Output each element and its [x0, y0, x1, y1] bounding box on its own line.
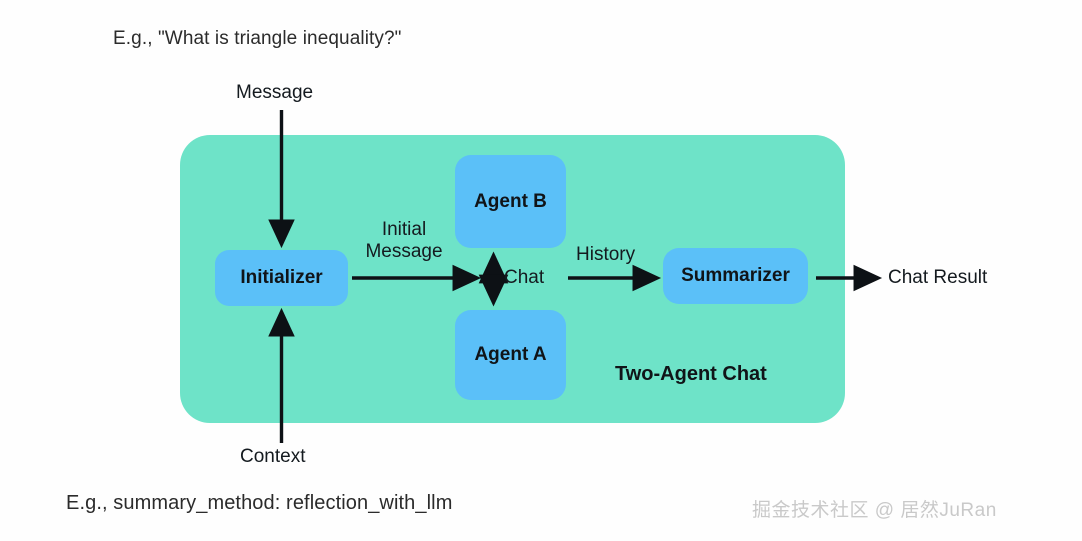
edge-label-history: History: [576, 244, 635, 266]
edge-label-initial-message-line2: Message: [358, 241, 450, 263]
edge-label-message: Message: [236, 82, 313, 104]
example-summary-method-note: E.g., summary_method: reflection_with_ll…: [66, 492, 452, 515]
edge-label-context: Context: [240, 446, 305, 468]
group-label-two-agent-chat: Two-Agent Chat: [615, 363, 767, 386]
node-agent-a[interactable]: Agent A: [455, 310, 566, 400]
edge-label-chat: Chat: [504, 267, 544, 289]
example-message-note: E.g., "What is triangle inequality?": [113, 28, 402, 50]
node-summarizer[interactable]: Summarizer: [663, 248, 808, 304]
edge-label-initial-message-line1: Initial: [358, 219, 450, 241]
edge-label-initial-message: Initial Message: [358, 219, 450, 264]
diagram-canvas: E.g., "What is triangle inequality?": [0, 0, 1082, 541]
node-agent-b[interactable]: Agent B: [455, 155, 566, 248]
node-initializer[interactable]: Initializer: [215, 250, 348, 306]
watermark-text: 掘金技术社区 @ 居然JuRan: [752, 495, 997, 522]
edge-label-chat-result: Chat Result: [888, 267, 987, 289]
